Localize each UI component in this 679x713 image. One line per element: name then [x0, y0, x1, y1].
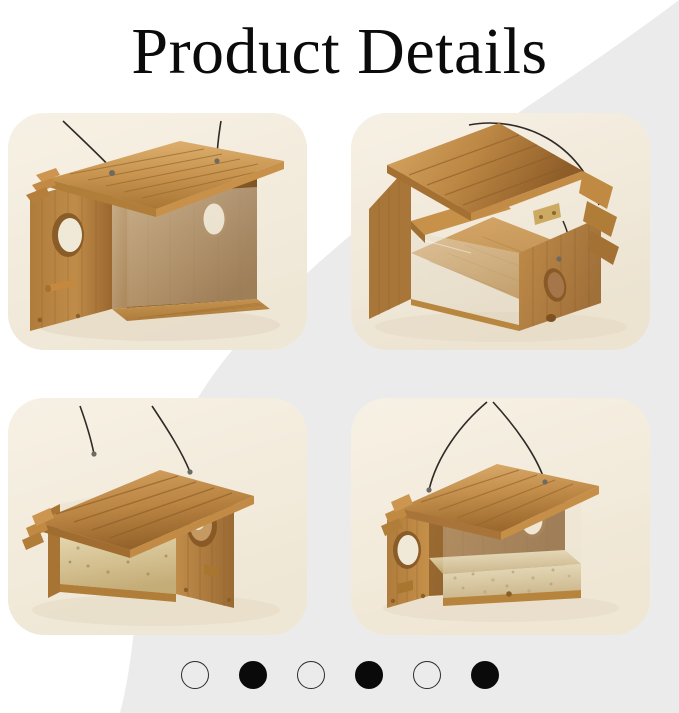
pagination-dot-5[interactable]: [413, 661, 441, 689]
gallery-photo-2[interactable]: [351, 113, 650, 350]
bird-feeder-hanging-filled-image: [351, 398, 650, 635]
bird-feeder-front-angle-image: [8, 113, 307, 350]
pagination-dot-2[interactable]: [239, 661, 267, 689]
pagination-dot-3[interactable]: [297, 661, 325, 689]
pagination-dot-6[interactable]: [471, 661, 499, 689]
bird-feeder-side-filled-image: [8, 398, 307, 635]
pagination-dot-1[interactable]: [181, 661, 209, 689]
gallery-photo-3[interactable]: [8, 398, 307, 635]
product-details-page: Product Details: [0, 0, 679, 713]
gallery-photo-1[interactable]: [8, 113, 307, 350]
pagination-dot-4[interactable]: [355, 661, 383, 689]
gallery-grid: [8, 113, 671, 635]
page-title: Product Details: [0, 14, 679, 90]
bird-feeder-top-down-image: [351, 113, 650, 350]
gallery-pagination: [0, 661, 679, 689]
gallery-photo-4[interactable]: [351, 398, 650, 635]
